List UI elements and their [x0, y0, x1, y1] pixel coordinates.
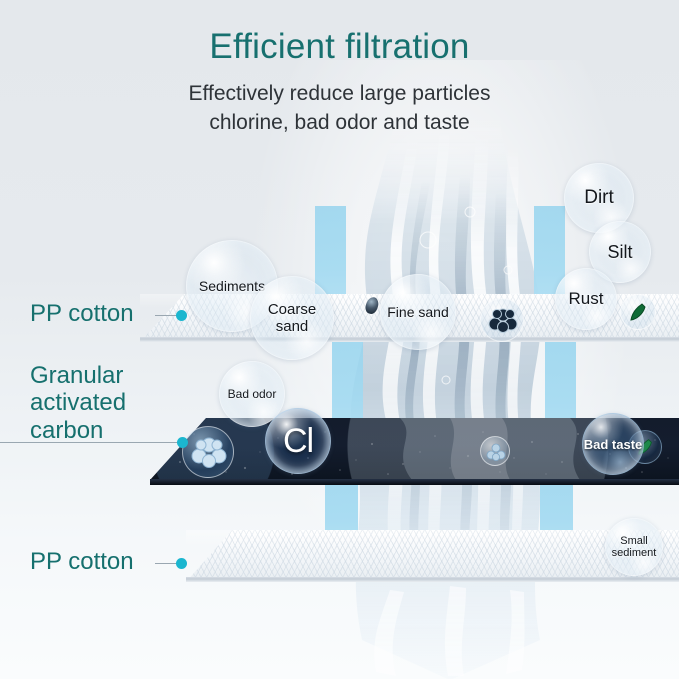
callout-granular-activated-carbon: Granular activated carbon: [30, 362, 126, 444]
callout-pp-cotton-top: PP cotton: [30, 300, 134, 327]
bubble-label-sediments: Sediments: [199, 278, 265, 294]
bubble-label-bad-taste: Bad taste: [584, 437, 643, 452]
cluster-glyph: [481, 299, 525, 343]
carbon-molecule-icon-2: [480, 436, 510, 466]
carbon-molecule-icon-1: [182, 426, 234, 478]
callout-leader-line-3: [155, 563, 177, 564]
callout-pp-cotton-bottom: PP cotton: [30, 548, 134, 575]
header-block: Efficient filtration Effectively reduce …: [0, 28, 679, 138]
product-infographic: PP cotton: [0, 0, 679, 679]
callout-dot-2: [177, 437, 188, 448]
bubble-chlorine: Cl: [265, 408, 331, 474]
page-subtitle: Effectively reduce large particles chlor…: [0, 79, 679, 139]
bubble-label-small-sediment: Small sediment: [606, 535, 662, 559]
bubble-coarse-sand: Coarse sand: [250, 276, 334, 360]
layer-pp-cotton-bottom: [186, 530, 679, 582]
bubble-fine-sand: Fine sand: [380, 274, 456, 350]
callout-leader-line-1: [155, 315, 177, 316]
bubble-label-bad-odor: Bad odor: [228, 387, 277, 401]
particle-cluster-icon: [480, 298, 524, 342]
bubble-bad-taste: Bad taste: [582, 413, 644, 475]
molecule-glyph: [183, 427, 235, 479]
bubble-label-chlorine: Cl: [283, 422, 313, 461]
callout-dot-3: [176, 558, 187, 569]
molecule-glyph-small: [481, 437, 511, 467]
algae-icon-1: [620, 294, 656, 330]
page-subtitle-line1: Effectively reduce large particles: [0, 79, 679, 109]
callout-leader-line-2: [0, 442, 178, 443]
bubble-label-silt: Silt: [607, 242, 632, 263]
page-title: Efficient filtration: [0, 28, 679, 67]
bubble-small-sediment: Small sediment: [605, 518, 663, 576]
page-subtitle-line2: chlorine, bad odor and taste: [0, 108, 679, 138]
bubble-label-coarse-sand: Coarse sand: [251, 301, 333, 335]
bubble-rust: Rust: [555, 268, 617, 330]
bubble-label-dirt: Dirt: [584, 187, 614, 209]
bubble-label-rust: Rust: [569, 289, 604, 309]
bubble-label-fine-sand: Fine sand: [387, 304, 448, 320]
callout-dot-1: [176, 310, 187, 321]
